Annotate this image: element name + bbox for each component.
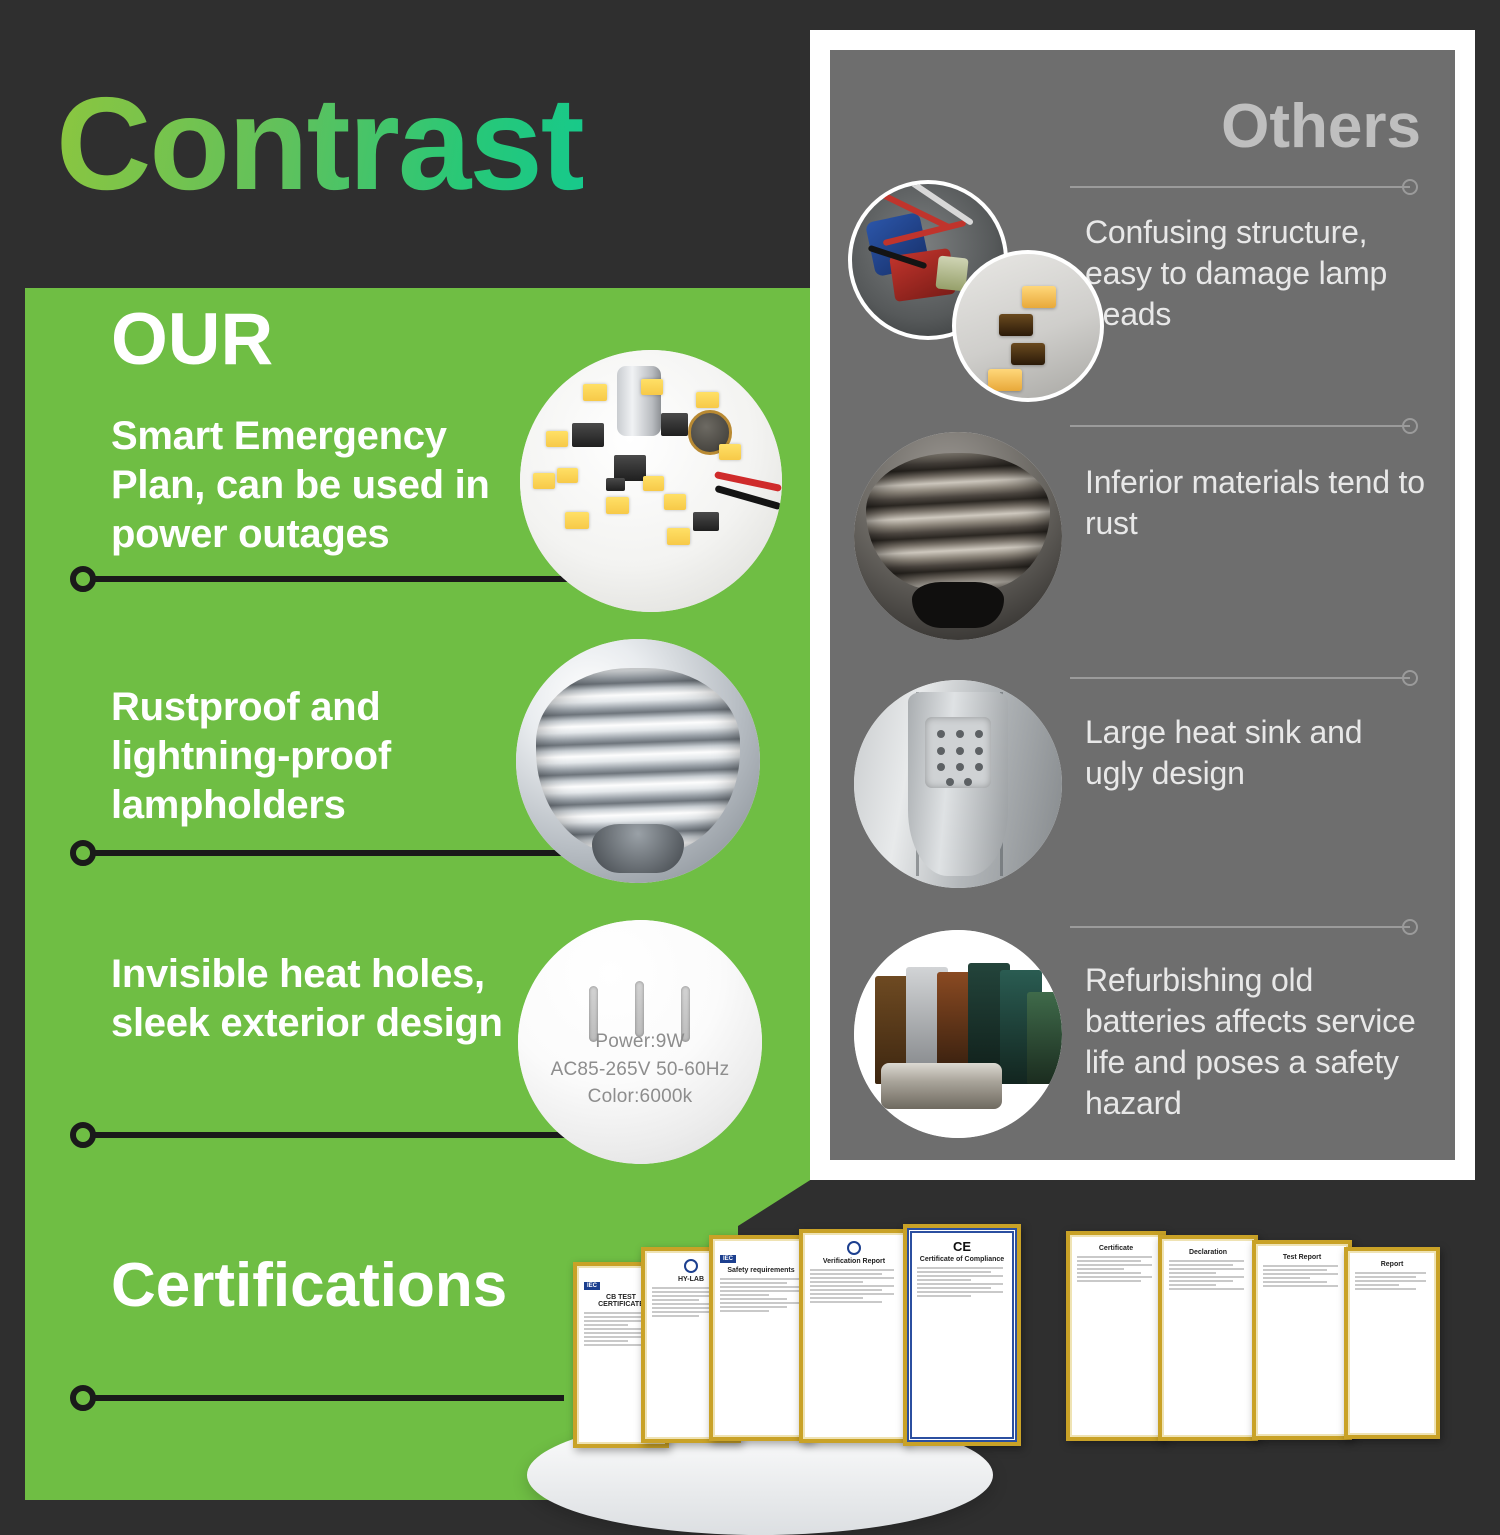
ours-connector-dot-1 [70,566,96,592]
ce-mark: CE [917,1239,1007,1254]
others-connector-dot-3 [1402,670,1418,686]
bulb-spec-text: Power:9W AC85-265V 50-60Hz Color:6000k [518,1028,762,1111]
others-connector-dot-4 [1402,919,1418,935]
others-item-1: Confusing structure, easy to damage lamp… [1085,212,1425,335]
ours-feature-1-text: Smart Emergency Plan, can be used in pow… [111,412,531,558]
iec-logo: IEC [584,1282,600,1290]
others-item-2: Inferior materials tend to rust [1085,462,1425,544]
bulb-spec-power: Power:9W [518,1028,762,1056]
certificate-6-title: Certificate [1077,1245,1155,1252]
ours-feature-3: Invisible heat holes, sleek exterior des… [111,950,531,1048]
bulb-spec-color: Color:6000k [518,1083,762,1111]
others-item-4: Refurbishing old batteries affects servi… [1085,960,1425,1124]
page-title: Contrast [56,78,583,210]
others-connector-line-1 [1070,186,1410,188]
others-connector-line-4 [1070,926,1410,928]
corroded-batteries-photo [854,930,1062,1138]
others-item-4-text: Refurbishing old batteries affects servi… [1085,960,1425,1124]
certificate-8-title: Test Report [1263,1254,1341,1261]
ours-label: OUR [111,303,273,376]
others-connector-line-3 [1070,677,1410,679]
burnt-lamp-beads-photo [952,250,1104,402]
certificate-3-title: Safety requirements [720,1267,802,1274]
ours-connector-line-1 [94,576,594,582]
certifications-label: Certifications [111,1255,507,1317]
others-item-2-text: Inferior materials tend to rust [1085,462,1425,544]
certificate-4: Verification Report [799,1229,909,1443]
iec-logo-2: IEC [720,1255,736,1263]
certifications-connector-dot [70,1385,96,1411]
ours-feature-2-text: Rustproof and lightning-proof lampholder… [111,683,531,829]
others-label: Others [1221,96,1421,158]
others-item-3: Large heat sink and ugly design [1085,712,1425,794]
others-panel: Others Confusing structure, easy to dama… [830,50,1455,1160]
certificate-5-title: Certificate of Compliance [917,1256,1007,1263]
certificate-4-title: Verification Report [810,1258,898,1265]
certificate-8: Test Report [1252,1240,1352,1440]
ours-feature-1: Smart Emergency Plan, can be used in pow… [111,412,531,558]
others-panel-frame: Others Confusing structure, easy to dama… [810,30,1475,1180]
others-connector-line-2 [1070,425,1410,427]
ours-connector-dot-3 [70,1122,96,1148]
large-heatsink-photo [854,680,1062,888]
others-connector-dot-2 [1402,418,1418,434]
bulb-spec-voltage: AC85-265V 50-60Hz [518,1056,762,1084]
certificate-6: Certificate [1066,1231,1166,1441]
certifications-connector-line [94,1395,564,1401]
ours-feature-3-text: Invisible heat holes, sleek exterior des… [111,950,531,1048]
chrome-lampholder-photo [516,639,760,883]
certificate-9: Report [1344,1247,1440,1439]
others-connector-dot-1 [1402,179,1418,195]
certificate-3: IEC Safety requirements [709,1235,813,1441]
white-bulb-photo: Power:9W AC85-265V 50-60Hz Color:6000k [518,920,762,1164]
certificate-5: CE Certificate of Compliance [903,1224,1021,1446]
certificate-9-title: Report [1355,1261,1429,1268]
ours-connector-dot-2 [70,840,96,866]
rusty-lamp-base-photo [854,432,1062,640]
certificate-7-title: Declaration [1169,1249,1247,1256]
certificate-7: Declaration [1158,1235,1258,1441]
others-item-3-text: Large heat sink and ugly design [1085,712,1425,794]
others-item-1-text: Confusing structure, easy to damage lamp… [1085,212,1425,335]
ours-feature-2: Rustproof and lightning-proof lampholder… [111,683,531,829]
led-pcb-photo [520,350,782,612]
